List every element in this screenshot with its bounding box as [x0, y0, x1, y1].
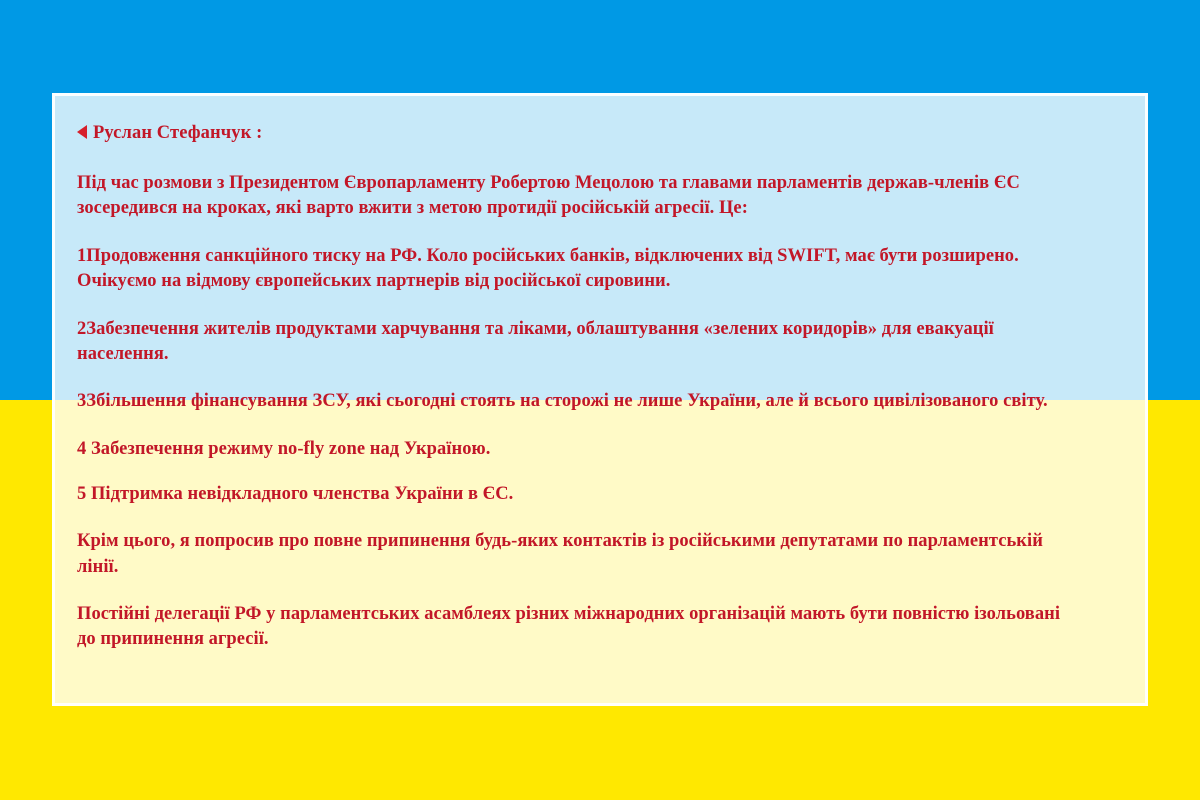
statement-panel-content: Руслан Стефанчук : Під час розмови з Пре… — [77, 122, 1123, 653]
post-paragraph-intro: Під час розмови з Президентом Європарлам… — [77, 171, 1077, 222]
post-paragraph-item-2: 2Забезпечення жителів продуктами харчува… — [77, 317, 1077, 368]
post-author-name: Руслан Стефанчук : — [93, 123, 262, 143]
post-paragraph-item-1: 1Продовження санкційного тиску на РФ. Ко… — [77, 244, 1077, 295]
screenshot-stage: Руслан Стефанчук : Під час розмови з Пре… — [0, 0, 1200, 800]
post-paragraph-item-5: 5 Підтримка невідкладного членства Украї… — [77, 482, 1077, 507]
post-paragraph-item-3: 3Збільшення фінансування ЗСУ, які сьогод… — [77, 389, 1077, 414]
post-paragraph-item-4: 4 Забезпечення режиму no-fly zone над Ук… — [77, 437, 1077, 462]
post-paragraph-delegations: Постійні делегації РФ у парламентських а… — [77, 602, 1077, 653]
post-paragraph-contacts: Крім цього, я попросив про повне припине… — [77, 529, 1077, 580]
statement-panel: Руслан Стефанчук : Під час розмови з Пре… — [52, 93, 1148, 706]
triangle-left-icon — [77, 125, 87, 139]
post-author-line: Руслан Стефанчук : — [77, 122, 1123, 145]
